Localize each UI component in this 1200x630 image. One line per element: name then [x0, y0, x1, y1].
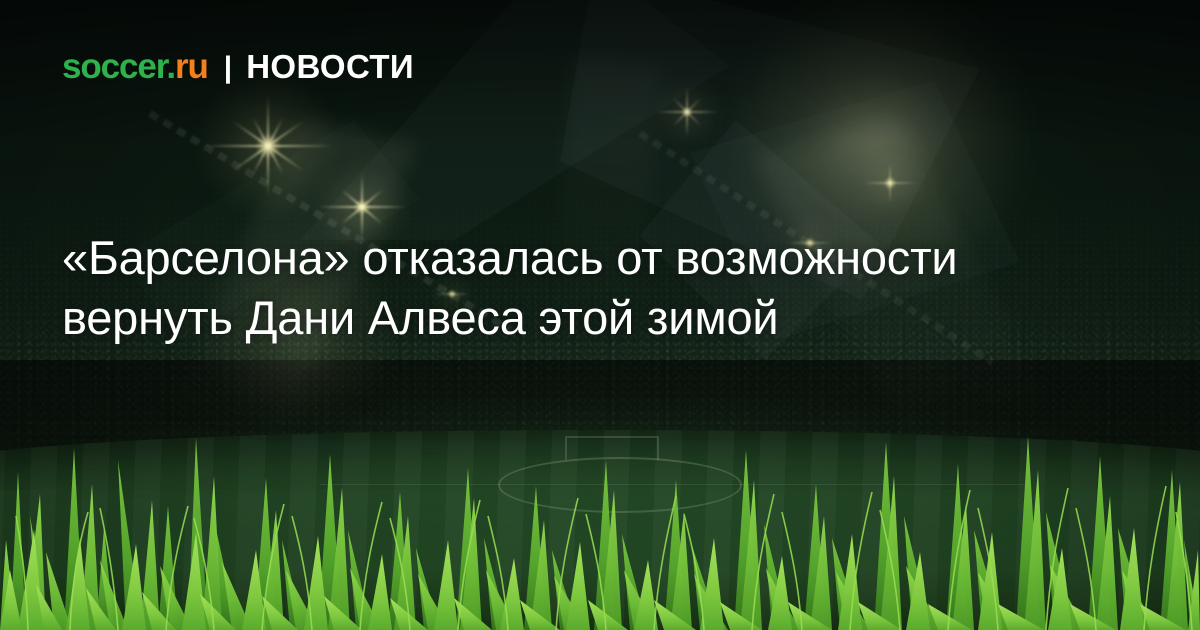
logo-separator: |	[224, 51, 232, 85]
section-label: НОВОСТИ	[246, 48, 414, 86]
site-logo[interactable]: soccer. ru | НОВОСТИ	[62, 47, 414, 87]
logo-soccer-text: soccer.	[62, 47, 175, 87]
headline: «Барселона» отказалась от возможности ве…	[62, 228, 1082, 348]
logo-tld-text: ru	[175, 47, 208, 87]
foreground-grass	[0, 420, 1200, 630]
share-card: soccer. ru | НОВОСТИ «Барселона» отказал…	[0, 0, 1200, 630]
